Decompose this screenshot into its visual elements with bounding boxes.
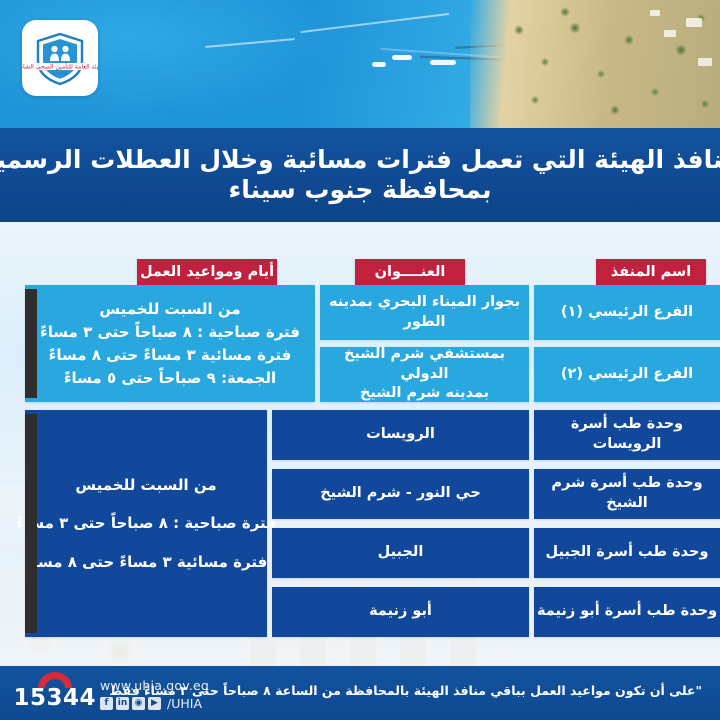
table-cell-address: الرويسات (272, 410, 529, 460)
resort-building (686, 18, 702, 27)
instagram-icon[interactable]: ◉ (132, 697, 145, 710)
page-title-line-2: بمحافظة جنوب سيناء (228, 175, 491, 206)
page-title-bar: منافذ الهيئة التي تعمل فترات مسائية وخلا… (0, 128, 720, 222)
table-cell-address: بجوار الميناء البحري بمدينه الطور (320, 285, 529, 340)
uhia-logo: الهيئة العامة للتأمين الصحي الشامل UHIA (22, 20, 98, 96)
column-header-address: العنــــوان (355, 259, 465, 285)
boat (430, 60, 456, 65)
boat (372, 62, 386, 67)
work-hours-line: فترة مسائية ٣ مساءً حتى ٨ مساءً (25, 552, 268, 572)
resort-building (664, 30, 676, 37)
social-links: f in ◉ ▶ /UHIA (100, 696, 209, 711)
work-hours-line: فترة صباحية : ٨ صباحاً حتى ٣ مساءً (40, 322, 300, 342)
work-hours-line: من السبت للخميس (75, 475, 216, 495)
hotline-block[interactable]: 15344 (18, 672, 96, 716)
youtube-icon[interactable]: ▶ (148, 697, 161, 710)
hotline-number: 15344 (18, 685, 96, 711)
work-hours-group-2: من السبت للخميس فترة صباحية : ٨ صباحاً ح… (25, 410, 267, 637)
boat (392, 55, 412, 60)
footer-note: "على أن تكون مواعيد العمل بباقي منافذ ال… (232, 683, 702, 698)
outlets-grid: الفرع الرئيسي (١) الفرع الرئيسي (٢) وحدة… (0, 285, 720, 666)
footer-bar: 15344 www.uhia.gov.eg f in ◉ ▶ /UHIA "عل… (0, 666, 720, 720)
table-row: وحدة طب أسرة الرويسات (534, 410, 720, 460)
resort-building (650, 10, 660, 16)
column-header-outlet-name: اسم المنفذ (596, 259, 706, 285)
table-cell-address: بمستشفي شرم الشيخ الدولي بمدينه شرم الشي… (320, 347, 529, 402)
work-hours-line: الجمعة: ٩ صباحاً حتى ٥ مساءً (64, 368, 276, 388)
work-hours-group-1: من السبت للخميس فترة صباحية : ٨ صباحاً ح… (25, 285, 315, 402)
infographic-page: الهيئة العامة للتأمين الصحي الشامل UHIA … (0, 0, 720, 720)
work-hours-line: من السبت للخميس (99, 299, 240, 319)
work-hours-line: فترة مسائية ٣ مساءً حتى ٨ مساءً (49, 345, 292, 365)
social-handle: /UHIA (167, 696, 202, 711)
page-title-line-1: منافذ الهيئة التي تعمل فترات مسائية وخلا… (0, 145, 720, 176)
table-row: الفرع الرئيسي (١) (534, 285, 720, 340)
row-spine-accent (25, 414, 37, 633)
table-cell-address: حي النور - شرم الشيخ (272, 469, 529, 519)
logo-arabic-text: الهيئة العامة للتأمين الصحي الشامل (22, 62, 98, 71)
table-row: الفرع الرئيسي (٢) (534, 347, 720, 402)
facebook-icon[interactable]: f (100, 697, 113, 710)
table-row: وحدة طب أسرة أبو زنيمة (534, 587, 720, 637)
logo-acronym: UHIA (51, 72, 68, 78)
work-hours-line: فترة صباحية : ٨ صباحاً حتى ٣ مساءً (16, 513, 276, 533)
column-header-work-hours: أيام ومواعيد العمل (137, 259, 277, 285)
table-cell-address: أبو زنيمة (272, 587, 529, 637)
row-spine-accent (25, 289, 37, 398)
table-cell-address: الجبيل (272, 528, 529, 578)
hero-banner-photo (0, 0, 720, 128)
resort-building (698, 58, 712, 66)
table-row: وحدة طب أسرة الجبيل (534, 528, 720, 578)
linkedin-icon[interactable]: in (116, 697, 129, 710)
table-row: وحدة طب أسرة شرم الشيخ (534, 469, 720, 519)
